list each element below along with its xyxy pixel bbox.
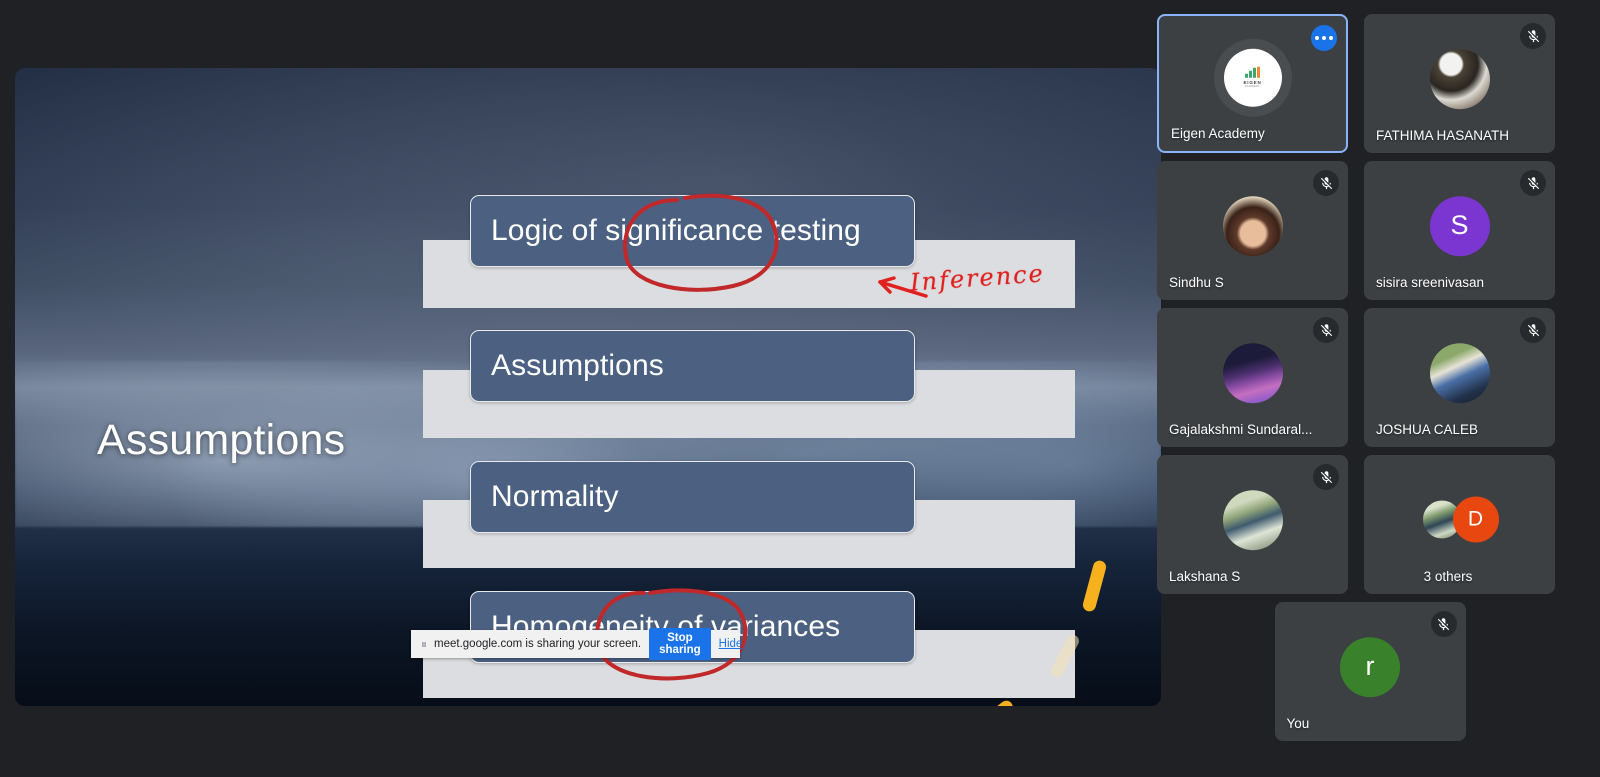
participant-name: FATHIMA HASANATH (1376, 128, 1509, 143)
participant-name: Lakshana S (1169, 569, 1240, 584)
others-count-label: 3 others (1364, 569, 1532, 584)
avatar-initial: D (1453, 496, 1499, 542)
avatar-initial: S (1430, 196, 1490, 256)
topic-box-3: Normality (470, 461, 915, 533)
pause-icon: ⏸ (419, 637, 426, 652)
participant-rail: EIGEN ACADEMY Eigen Academy FATHIMA HASA… (1157, 14, 1587, 741)
shared-screen-stage[interactable]: Assumptions Logic of significance testin… (15, 68, 1161, 706)
participant-grid: EIGEN ACADEMY Eigen Academy FATHIMA HASA… (1157, 14, 1587, 594)
participant-tile-eigen-academy[interactable]: EIGEN ACADEMY Eigen Academy (1157, 14, 1348, 153)
stop-sharing-button[interactable]: Stop sharing (649, 628, 711, 660)
avatar (1430, 343, 1490, 403)
participant-name: JOSHUA CALEB (1376, 422, 1478, 437)
more-options-icon[interactable] (1311, 25, 1337, 51)
participant-tile-sisira-sreenivasan[interactable]: S sisira sreenivasan (1364, 161, 1555, 300)
avatar-photo (1430, 49, 1490, 109)
avatar-photo (1223, 343, 1283, 403)
topic-box-1: Logic of significance testing (470, 195, 915, 267)
participant-tile-lakshana-s[interactable]: Lakshana S (1157, 455, 1348, 594)
mic-muted-icon (1313, 170, 1339, 196)
participant-name: sisira sreenivasan (1376, 275, 1484, 290)
slide-title: Assumptions (97, 416, 345, 465)
avatar: EIGEN ACADEMY (1214, 38, 1292, 116)
avatar-photo (1223, 490, 1283, 550)
avatar-initial: r (1340, 637, 1400, 697)
presentation-slide: Assumptions Logic of significance testin… (15, 68, 1161, 706)
mic-muted-icon (1520, 170, 1546, 196)
topic-label: Logic of significance testing (491, 214, 861, 248)
share-message: meet.google.com is sharing your screen. (434, 638, 641, 650)
avatar: r (1340, 637, 1400, 697)
participant-tile-gajalakshmi-sundaral[interactable]: Gajalakshmi Sundaral... (1157, 308, 1348, 447)
screen-share-infobar: ⏸ meet.google.com is sharing your screen… (411, 630, 740, 658)
participant-tile-sindhu-s[interactable]: Sindhu S (1157, 161, 1348, 300)
meet-window: Assumptions Logic of significance testin… (0, 0, 1600, 777)
logo-subtext: ACADEMY (1245, 85, 1260, 88)
avatar (1223, 490, 1283, 550)
decor-dash (1081, 559, 1107, 613)
hide-link[interactable]: Hide (719, 638, 745, 650)
eigen-academy-logo-icon: EIGEN ACADEMY (1224, 48, 1282, 106)
participant-name: Eigen Academy (1171, 126, 1265, 141)
avatar-photo (1430, 343, 1490, 403)
mic-muted-icon (1313, 464, 1339, 490)
mic-muted-icon (1431, 611, 1457, 637)
participant-name: Sindhu S (1169, 275, 1224, 290)
topic-box-2: Assumptions (470, 330, 915, 402)
self-tile-wrapper: r You (1157, 602, 1587, 741)
participant-name: You (1287, 716, 1310, 731)
avatar-photo (1223, 196, 1283, 256)
avatar (1223, 343, 1283, 403)
participant-tile-others[interactable]: D 3 others (1364, 455, 1555, 594)
mic-muted-icon (1520, 23, 1546, 49)
avatar-stack: D (1421, 496, 1499, 542)
participant-tile-self[interactable]: r You (1275, 602, 1466, 741)
topic-label: Normality (491, 480, 619, 514)
mic-muted-icon (1313, 317, 1339, 343)
decor-dash (970, 698, 1016, 706)
topic-label: Assumptions (491, 349, 664, 383)
avatar: S (1430, 196, 1490, 256)
avatar (1430, 49, 1490, 109)
avatar (1223, 196, 1283, 256)
participant-tile-joshua-caleb[interactable]: JOSHUA CALEB (1364, 308, 1555, 447)
mic-muted-icon (1520, 317, 1546, 343)
participant-tile-fathima-hasanath[interactable]: FATHIMA HASANATH (1364, 14, 1555, 153)
participant-name: Gajalakshmi Sundaral... (1169, 422, 1312, 437)
